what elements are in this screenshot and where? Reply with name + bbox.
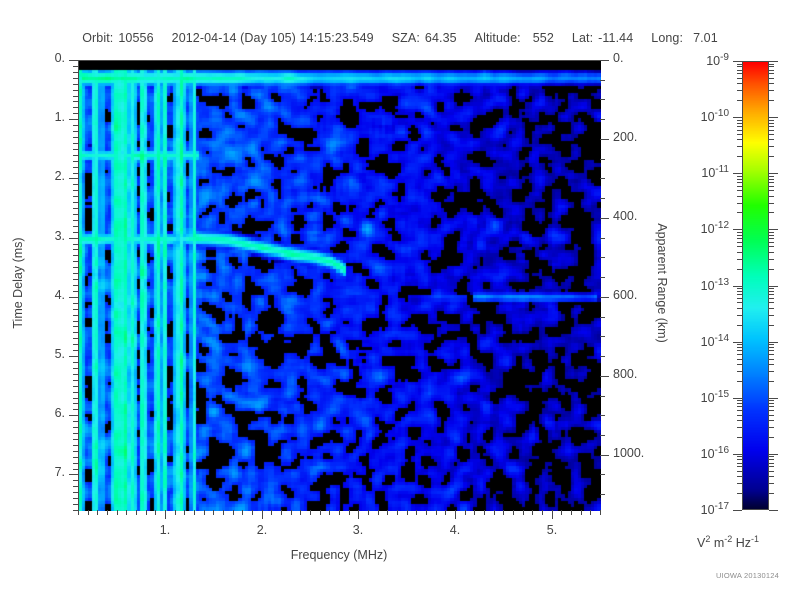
colorbar-minor-tick	[737, 252, 742, 253]
colorbar-minor-tick	[769, 371, 774, 372]
colorbar-major-tick	[769, 229, 778, 230]
y-minor-tick	[73, 155, 78, 156]
colorbar-minor-tick	[737, 126, 742, 127]
colorbar-tick-exponent-8: -17	[715, 501, 729, 512]
colorbar-major-tick	[733, 117, 742, 118]
colorbar-minor-tick	[769, 354, 774, 355]
colorbar-minor-tick	[769, 347, 774, 348]
colorbar-minor-tick	[769, 476, 774, 477]
y-minor-tick	[73, 214, 78, 215]
colorbar-minor-tick	[737, 235, 742, 236]
colorbar-gradient	[743, 62, 768, 509]
colorbar-minor-tick	[769, 139, 774, 140]
colorbar-minor-tick	[769, 190, 774, 191]
colorbar-minor-tick	[769, 344, 774, 345]
watermark-credit: UIOWA 20130124	[716, 571, 779, 580]
colorbar-minor-tick	[737, 410, 742, 411]
y-minor-tick	[73, 273, 78, 274]
y-minor-tick	[73, 409, 78, 410]
colorbar-minor-tick	[737, 354, 742, 355]
colorbar-tick-mantissa-7: 10	[701, 447, 715, 461]
colorbar-minor-tick	[737, 73, 742, 74]
colorbar-minor-tick	[737, 308, 742, 309]
y-minor-tick	[73, 137, 78, 138]
y2-minor-tick	[600, 159, 605, 160]
colorbar-minor-tick	[737, 70, 742, 71]
altitude-value: 552	[533, 31, 554, 45]
y-minor-tick	[73, 267, 78, 268]
y2-minor-tick	[600, 435, 605, 436]
colorbar-tick-exponent-6: -15	[715, 389, 729, 400]
colorbar-minor-tick	[769, 259, 774, 260]
y-minor-tick	[73, 492, 78, 493]
colorbar-minor-tick	[769, 269, 774, 270]
colorbar-minor-tick	[769, 246, 774, 247]
sza-label: SZA:	[392, 31, 420, 45]
y-minor-tick	[73, 78, 78, 79]
y-major-tick	[69, 238, 78, 239]
colorbar-minor-tick	[769, 483, 774, 484]
colorbar-minor-tick	[769, 176, 774, 177]
y-minor-tick	[73, 143, 78, 144]
colorbar-minor-tick	[769, 466, 774, 467]
colorbar-minor-tick	[769, 298, 774, 299]
colorbar-minor-tick	[737, 420, 742, 421]
colorbar-major-tick	[769, 454, 778, 455]
colorbar-minor-tick	[737, 302, 742, 303]
colorbar-minor-tick	[769, 156, 774, 157]
colorbar-minor-tick	[737, 139, 742, 140]
sza-value: 64.35	[425, 31, 457, 45]
colorbar-major-tick	[733, 286, 742, 287]
x-tick-label-2: 3.	[344, 523, 372, 537]
colorbar-minor-tick	[769, 235, 774, 236]
x-tick-label-3: 4.	[441, 523, 469, 537]
y2-minor-tick	[600, 198, 605, 199]
y2-minor-tick	[600, 415, 605, 416]
colorbar-major-tick	[769, 286, 778, 287]
colorbar-tick-label-7: 10-16	[0, 445, 729, 461]
colorbar-minor-tick	[737, 371, 742, 372]
datetime-value: 2012-04-14 (Day 105) 14:15:23.549	[172, 31, 374, 45]
colorbar-minor-tick	[769, 471, 774, 472]
colorbar-minor-tick	[769, 294, 774, 295]
y2-major-tick	[600, 139, 609, 140]
colorbar-minor-tick	[737, 64, 742, 65]
colorbar-tick-exponent-1: -10	[715, 108, 729, 119]
colorbar-minor-tick	[769, 179, 774, 180]
y-tick-label-7: 7.	[0, 465, 65, 479]
y-minor-tick	[73, 326, 78, 327]
y-minor-tick	[73, 101, 78, 102]
colorbar-major-tick	[733, 229, 742, 230]
colorbar-tick-mantissa-4: 10	[701, 279, 715, 293]
colorbar-minor-tick	[769, 410, 774, 411]
colorbar-minor-tick	[769, 406, 774, 407]
colorbar-tick-label-4: 10-13	[0, 277, 729, 293]
y-minor-tick	[73, 96, 78, 97]
colorbar-minor-tick	[769, 73, 774, 74]
colorbar-minor-tick	[737, 66, 742, 67]
colorbar-minor-tick	[769, 493, 774, 494]
colorbar-minor-tick	[769, 242, 774, 243]
colorbar-minor-tick	[737, 381, 742, 382]
colorbar-major-tick	[733, 510, 742, 511]
colorbar-minor-tick	[769, 302, 774, 303]
colorbar-major-tick	[733, 173, 742, 174]
colorbar-tick-mantissa-0: 10	[706, 54, 720, 68]
colorbar-minor-tick	[769, 186, 774, 187]
colorbar-minor-tick	[769, 134, 774, 135]
colorbar-major-tick	[733, 342, 742, 343]
colorbar-minor-tick	[737, 350, 742, 351]
colorbar-minor-tick	[737, 291, 742, 292]
y-minor-tick	[73, 196, 78, 197]
colorbar-minor-tick	[737, 203, 742, 204]
y-minor-tick	[73, 84, 78, 85]
y-minor-tick	[73, 303, 78, 304]
colorbar-minor-tick	[769, 456, 774, 457]
colorbar-minor-tick	[737, 359, 742, 360]
colorbar-minor-tick	[737, 364, 742, 365]
colorbar-minor-tick	[737, 196, 742, 197]
colorbar-minor-tick	[769, 126, 774, 127]
colorbar-minor-tick	[737, 459, 742, 460]
colorbar-tick-mantissa-8: 10	[701, 503, 715, 517]
colorbar-minor-tick	[737, 186, 742, 187]
longitude-label: Long:	[651, 31, 683, 45]
colorbar-minor-tick	[769, 252, 774, 253]
colorbar-minor-tick	[769, 78, 774, 79]
colorbar-minor-tick	[769, 100, 774, 101]
colorbar-tick-mantissa-3: 10	[701, 222, 715, 236]
colorbar-minor-tick	[737, 493, 742, 494]
y2-minor-tick	[600, 257, 605, 258]
colorbar-minor-tick	[737, 100, 742, 101]
y-minor-tick	[73, 249, 78, 250]
y-minor-tick	[73, 208, 78, 209]
colorbar-tick-exponent-2: -11	[715, 164, 729, 175]
y-minor-tick	[73, 161, 78, 162]
y-minor-tick	[73, 380, 78, 381]
colorbar-minor-tick	[737, 212, 742, 213]
y2-minor-tick	[600, 356, 605, 357]
y-minor-tick	[73, 368, 78, 369]
colorbar-minor-tick	[737, 463, 742, 464]
y-minor-tick	[73, 72, 78, 73]
y-minor-tick	[73, 244, 78, 245]
colorbar-tick-mantissa-5: 10	[701, 335, 715, 349]
colorbar-minor-tick	[769, 308, 774, 309]
colorbar-minor-tick	[737, 476, 742, 477]
colorbar-minor-tick	[769, 420, 774, 421]
colorbar-minor-tick	[737, 427, 742, 428]
y2-major-tick	[600, 218, 609, 219]
colorbar-minor-tick	[737, 344, 742, 345]
colorbar-minor-tick	[737, 269, 742, 270]
colorbar-major-tick	[769, 342, 778, 343]
orbit-value: 10556	[118, 31, 153, 45]
y-major-tick	[69, 297, 78, 298]
colorbar-minor-tick	[769, 232, 774, 233]
unit-meters-exponent: -2	[724, 534, 732, 544]
orbit-label: Orbit:	[82, 31, 113, 45]
colorbar-minor-tick	[737, 347, 742, 348]
y-minor-tick	[73, 255, 78, 256]
y-minor-tick	[73, 315, 78, 316]
colorbar-minor-tick	[769, 403, 774, 404]
colorbar-major-tick	[733, 398, 742, 399]
colorbar-minor-tick	[737, 294, 742, 295]
colorbar-minor-tick	[737, 123, 742, 124]
colorbar-minor-tick	[769, 359, 774, 360]
altitude-label: Altitude:	[475, 31, 521, 45]
colorbar-minor-tick	[769, 400, 774, 401]
colorbar-minor-tick	[769, 66, 774, 67]
colorbar-minor-tick	[737, 288, 742, 289]
unit-hertz: Hz	[736, 536, 751, 550]
y2-minor-tick	[600, 494, 605, 495]
colorbar-minor-tick	[737, 78, 742, 79]
colorbar-major-tick	[769, 61, 778, 62]
colorbar-minor-tick	[769, 130, 774, 131]
colorbar-minor-tick	[737, 403, 742, 404]
colorbar-minor-tick	[769, 70, 774, 71]
colorbar-minor-tick	[769, 350, 774, 351]
colorbar-minor-tick	[737, 90, 742, 91]
colorbar-major-tick	[769, 510, 778, 511]
colorbar-minor-tick	[769, 315, 774, 316]
colorbar-tick-label-0: 10-9	[0, 52, 729, 68]
colorbar-minor-tick	[769, 325, 774, 326]
colorbar-tick-exponent-4: -13	[715, 277, 729, 288]
colorbar-minor-tick	[769, 146, 774, 147]
colorbar-minor-tick	[769, 196, 774, 197]
colorbar-tick-label-2: 10-11	[0, 164, 729, 180]
y-minor-tick	[73, 131, 78, 132]
colorbar-tick-mantissa-1: 10	[701, 110, 715, 124]
y-minor-tick	[73, 202, 78, 203]
latitude-value: -11.44	[598, 31, 633, 45]
latitude-label: Lat:	[572, 31, 593, 45]
colorbar-minor-tick	[737, 246, 742, 247]
y-minor-tick	[73, 386, 78, 387]
colorbar-minor-tick	[737, 156, 742, 157]
colorbar-minor-tick	[769, 459, 774, 460]
observation-header: Orbit:105562012-04-14 (Day 105) 14:15:23…	[0, 31, 800, 45]
y-minor-tick	[73, 486, 78, 487]
colorbar-minor-tick	[737, 298, 742, 299]
ionogram-figure: Orbit:105562012-04-14 (Day 105) 14:15:23…	[0, 0, 800, 600]
y2-minor-tick	[600, 80, 605, 81]
colorbar-major-tick	[769, 173, 778, 174]
colorbar-minor-tick	[737, 176, 742, 177]
y-major-tick	[69, 356, 78, 357]
colorbar-minor-tick	[737, 466, 742, 467]
colorbar-minor-tick	[737, 415, 742, 416]
colorbar-minor-tick	[769, 381, 774, 382]
colorbar-minor-tick	[769, 288, 774, 289]
colorbar-major-tick	[733, 61, 742, 62]
colorbar-tick-label-5: 10-14	[0, 333, 729, 349]
longitude-value: 7.01	[693, 31, 718, 45]
colorbar-minor-tick	[769, 182, 774, 183]
colorbar-minor-tick	[737, 437, 742, 438]
colorbar-minor-tick	[769, 120, 774, 121]
colorbar-tick-exponent-3: -12	[715, 220, 729, 231]
y2-major-tick	[600, 297, 609, 298]
colorbar-major-tick	[769, 117, 778, 118]
colorbar-minor-tick	[737, 406, 742, 407]
colorbar-minor-tick	[769, 90, 774, 91]
colorbar-minor-tick	[737, 325, 742, 326]
y-minor-tick	[73, 309, 78, 310]
y2-tick-label-4: 800.	[613, 367, 637, 381]
colorbar-minor-tick	[769, 83, 774, 84]
colorbar-tick-label-3: 10-12	[0, 220, 729, 236]
y-minor-tick	[73, 498, 78, 499]
y2-minor-tick	[600, 474, 605, 475]
y-minor-tick	[73, 190, 78, 191]
colorbar-tick-mantissa-6: 10	[701, 391, 715, 405]
y2-minor-tick	[600, 99, 605, 100]
colorbar-minor-tick	[737, 400, 742, 401]
unit-hertz-exponent: -1	[751, 534, 759, 544]
colorbar-minor-tick	[737, 120, 742, 121]
colorbar-minor-tick	[737, 182, 742, 183]
y-minor-tick	[73, 433, 78, 434]
colorbar-unit-label: V2 m-2 Hz-1	[697, 534, 759, 550]
colorbar-minor-tick	[737, 83, 742, 84]
colorbar-minor-tick	[769, 212, 774, 213]
y-minor-tick	[73, 469, 78, 470]
colorbar-minor-tick	[737, 146, 742, 147]
y-minor-tick	[73, 184, 78, 185]
colorbar-tick-label-6: 10-15	[0, 389, 729, 405]
colorbar	[742, 61, 769, 510]
colorbar-minor-tick	[769, 291, 774, 292]
y-minor-tick	[73, 261, 78, 262]
y-minor-tick	[73, 421, 78, 422]
y2-minor-tick	[600, 238, 605, 239]
y-minor-tick	[73, 427, 78, 428]
colorbar-minor-tick	[769, 203, 774, 204]
colorbar-tick-mantissa-2: 10	[701, 166, 715, 180]
colorbar-minor-tick	[737, 190, 742, 191]
colorbar-tick-exponent-7: -16	[715, 445, 729, 456]
colorbar-minor-tick	[737, 471, 742, 472]
y-minor-tick	[73, 463, 78, 464]
colorbar-minor-tick	[769, 238, 774, 239]
colorbar-tick-label-8: 10-17	[0, 501, 729, 517]
colorbar-tick-label-1: 10-10	[0, 108, 729, 124]
colorbar-major-tick	[769, 398, 778, 399]
unit-volts-exponent: 2	[705, 534, 710, 544]
y-tick-label-6: 6.	[0, 406, 65, 420]
colorbar-minor-tick	[769, 427, 774, 428]
colorbar-minor-tick	[737, 238, 742, 239]
y-minor-tick	[73, 90, 78, 91]
y-minor-tick	[73, 374, 78, 375]
colorbar-minor-tick	[769, 437, 774, 438]
colorbar-minor-tick	[737, 232, 742, 233]
colorbar-minor-tick	[769, 364, 774, 365]
colorbar-tick-exponent-0: -9	[720, 52, 729, 63]
y-minor-tick	[73, 362, 78, 363]
colorbar-minor-tick	[737, 179, 742, 180]
y2-major-tick	[600, 376, 609, 377]
colorbar-minor-tick	[769, 415, 774, 416]
colorbar-minor-tick	[737, 134, 742, 135]
x-tick-label-1: 2.	[248, 523, 276, 537]
y2-tick-label-1: 200.	[613, 130, 637, 144]
colorbar-tick-exponent-5: -14	[715, 333, 729, 344]
y-minor-tick	[73, 350, 78, 351]
unit-meters: m	[714, 536, 724, 550]
colorbar-minor-tick	[737, 483, 742, 484]
y-minor-tick	[73, 439, 78, 440]
colorbar-minor-tick	[769, 64, 774, 65]
y2-minor-tick	[600, 317, 605, 318]
y-minor-tick	[73, 125, 78, 126]
y-major-tick	[69, 474, 78, 475]
colorbar-minor-tick	[737, 456, 742, 457]
colorbar-minor-tick	[737, 130, 742, 131]
x-tick-label-4: 5.	[538, 523, 566, 537]
x-axis-title-frequency: Frequency (MHz)	[78, 548, 600, 562]
y-major-tick	[69, 415, 78, 416]
y-minor-tick	[73, 321, 78, 322]
colorbar-minor-tick	[737, 315, 742, 316]
colorbar-minor-tick	[769, 463, 774, 464]
y-minor-tick	[73, 480, 78, 481]
colorbar-minor-tick	[769, 123, 774, 124]
colorbar-minor-tick	[737, 259, 742, 260]
colorbar-minor-tick	[737, 242, 742, 243]
colorbar-major-tick	[733, 454, 742, 455]
x-tick-label-0: 1.	[151, 523, 179, 537]
y-minor-tick	[73, 149, 78, 150]
